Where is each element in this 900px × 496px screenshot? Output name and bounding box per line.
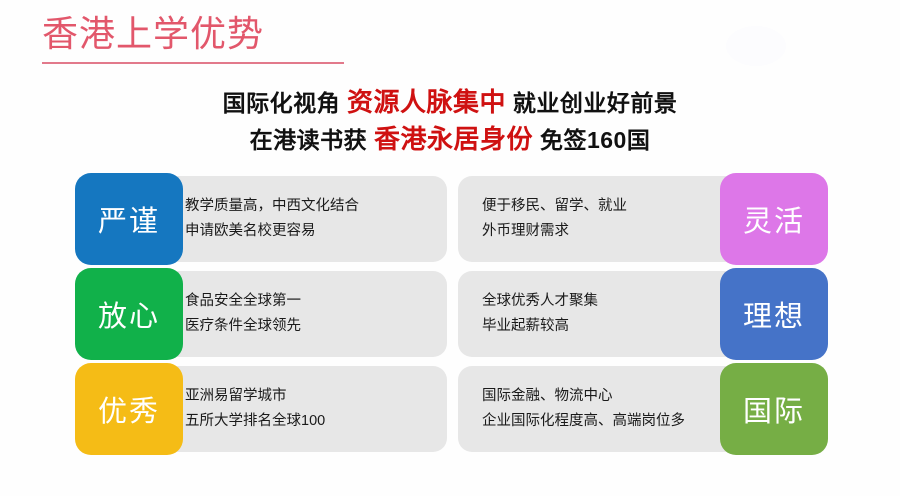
panel-line: 外币理财需求 (482, 219, 718, 244)
advantage-badge[interactable]: 理想 (720, 268, 828, 360)
panel-line: 医疗条件全球领先 (185, 314, 435, 339)
advantage-badge[interactable]: 国际 (720, 363, 828, 455)
panel-line: 申请欧美名校更容易 (185, 219, 435, 244)
panel-line: 教学质量高，中西文化结合 (185, 194, 435, 219)
advantage-rows: 教学质量高，中西文化结合 申请欧美名校更容易 严谨 便于移民、留学、就业 外币理… (0, 173, 900, 458)
advantage-row: 食品安全全球第一 医疗条件全球领先 放心 全球优秀人才聚集 毕业起薪较高 理想 (0, 268, 900, 363)
headline-2-pre: 在港读书获 (250, 127, 368, 153)
title-block: 香港上学优势 (42, 8, 462, 64)
page-title: 香港上学优势 (42, 8, 462, 60)
watermark-artifact (726, 26, 786, 66)
headline-1-post: 就业创业好前景 (513, 90, 678, 116)
headline-block: 国际化视角 资源人脉集中 就业创业好前景 在港读书获 香港永居身份 免签160国 (0, 86, 900, 157)
panel-line: 国际金融、物流中心 (482, 384, 718, 409)
panel-line: 五所大学排名全球100 (185, 409, 435, 434)
panel-line: 全球优秀人才聚集 (482, 289, 718, 314)
advantage-item-yanjin[interactable]: 教学质量高，中西文化结合 申请欧美名校更容易 严谨 (75, 173, 447, 265)
headline-1-pre: 国际化视角 (223, 90, 341, 116)
advantage-badge[interactable]: 优秀 (75, 363, 183, 455)
advantage-panel: 教学质量高，中西文化结合 申请欧美名校更容易 (137, 176, 447, 262)
advantage-item-linghuo[interactable]: 便于移民、留学、就业 外币理财需求 灵活 (458, 173, 828, 265)
advantage-badge[interactable]: 严谨 (75, 173, 183, 265)
advantage-row: 教学质量高，中西文化结合 申请欧美名校更容易 严谨 便于移民、留学、就业 外币理… (0, 173, 900, 268)
headline-line-2: 在港读书获 香港永居身份 免签160国 (0, 123, 900, 157)
advantage-badge[interactable]: 放心 (75, 268, 183, 360)
panel-line: 企业国际化程度高、高端岗位多 (482, 409, 718, 434)
headline-2-post: 免签160国 (540, 127, 650, 153)
advantage-panel: 食品安全全球第一 医疗条件全球领先 (137, 271, 447, 357)
advantage-item-youxiu[interactable]: 亚洲易留学城市 五所大学排名全球100 优秀 (75, 363, 447, 455)
headline-1-accent: 资源人脉集中 (347, 87, 506, 117)
advantage-row: 亚洲易留学城市 五所大学排名全球100 优秀 国际金融、物流中心 企业国际化程度… (0, 363, 900, 458)
advantage-item-guoji[interactable]: 国际金融、物流中心 企业国际化程度高、高端岗位多 国际 (458, 363, 828, 455)
advantage-item-lixiang[interactable]: 全球优秀人才聚集 毕业起薪较高 理想 (458, 268, 828, 360)
headline-2-accent: 香港永居身份 (374, 124, 533, 154)
advantage-panel: 亚洲易留学城市 五所大学排名全球100 (137, 366, 447, 452)
panel-line: 亚洲易留学城市 (185, 384, 435, 409)
panel-line: 毕业起薪较高 (482, 314, 718, 339)
panel-line: 食品安全全球第一 (185, 289, 435, 314)
headline-line-1: 国际化视角 资源人脉集中 就业创业好前景 (0, 86, 900, 120)
panel-line: 便于移民、留学、就业 (482, 194, 718, 219)
advantage-badge[interactable]: 灵活 (720, 173, 828, 265)
title-underline (42, 62, 344, 64)
slide-canvas: 香港上学优势 国际化视角 资源人脉集中 就业创业好前景 在港读书获 香港永居身份… (0, 0, 900, 496)
advantage-item-fangxin[interactable]: 食品安全全球第一 医疗条件全球领先 放心 (75, 268, 447, 360)
